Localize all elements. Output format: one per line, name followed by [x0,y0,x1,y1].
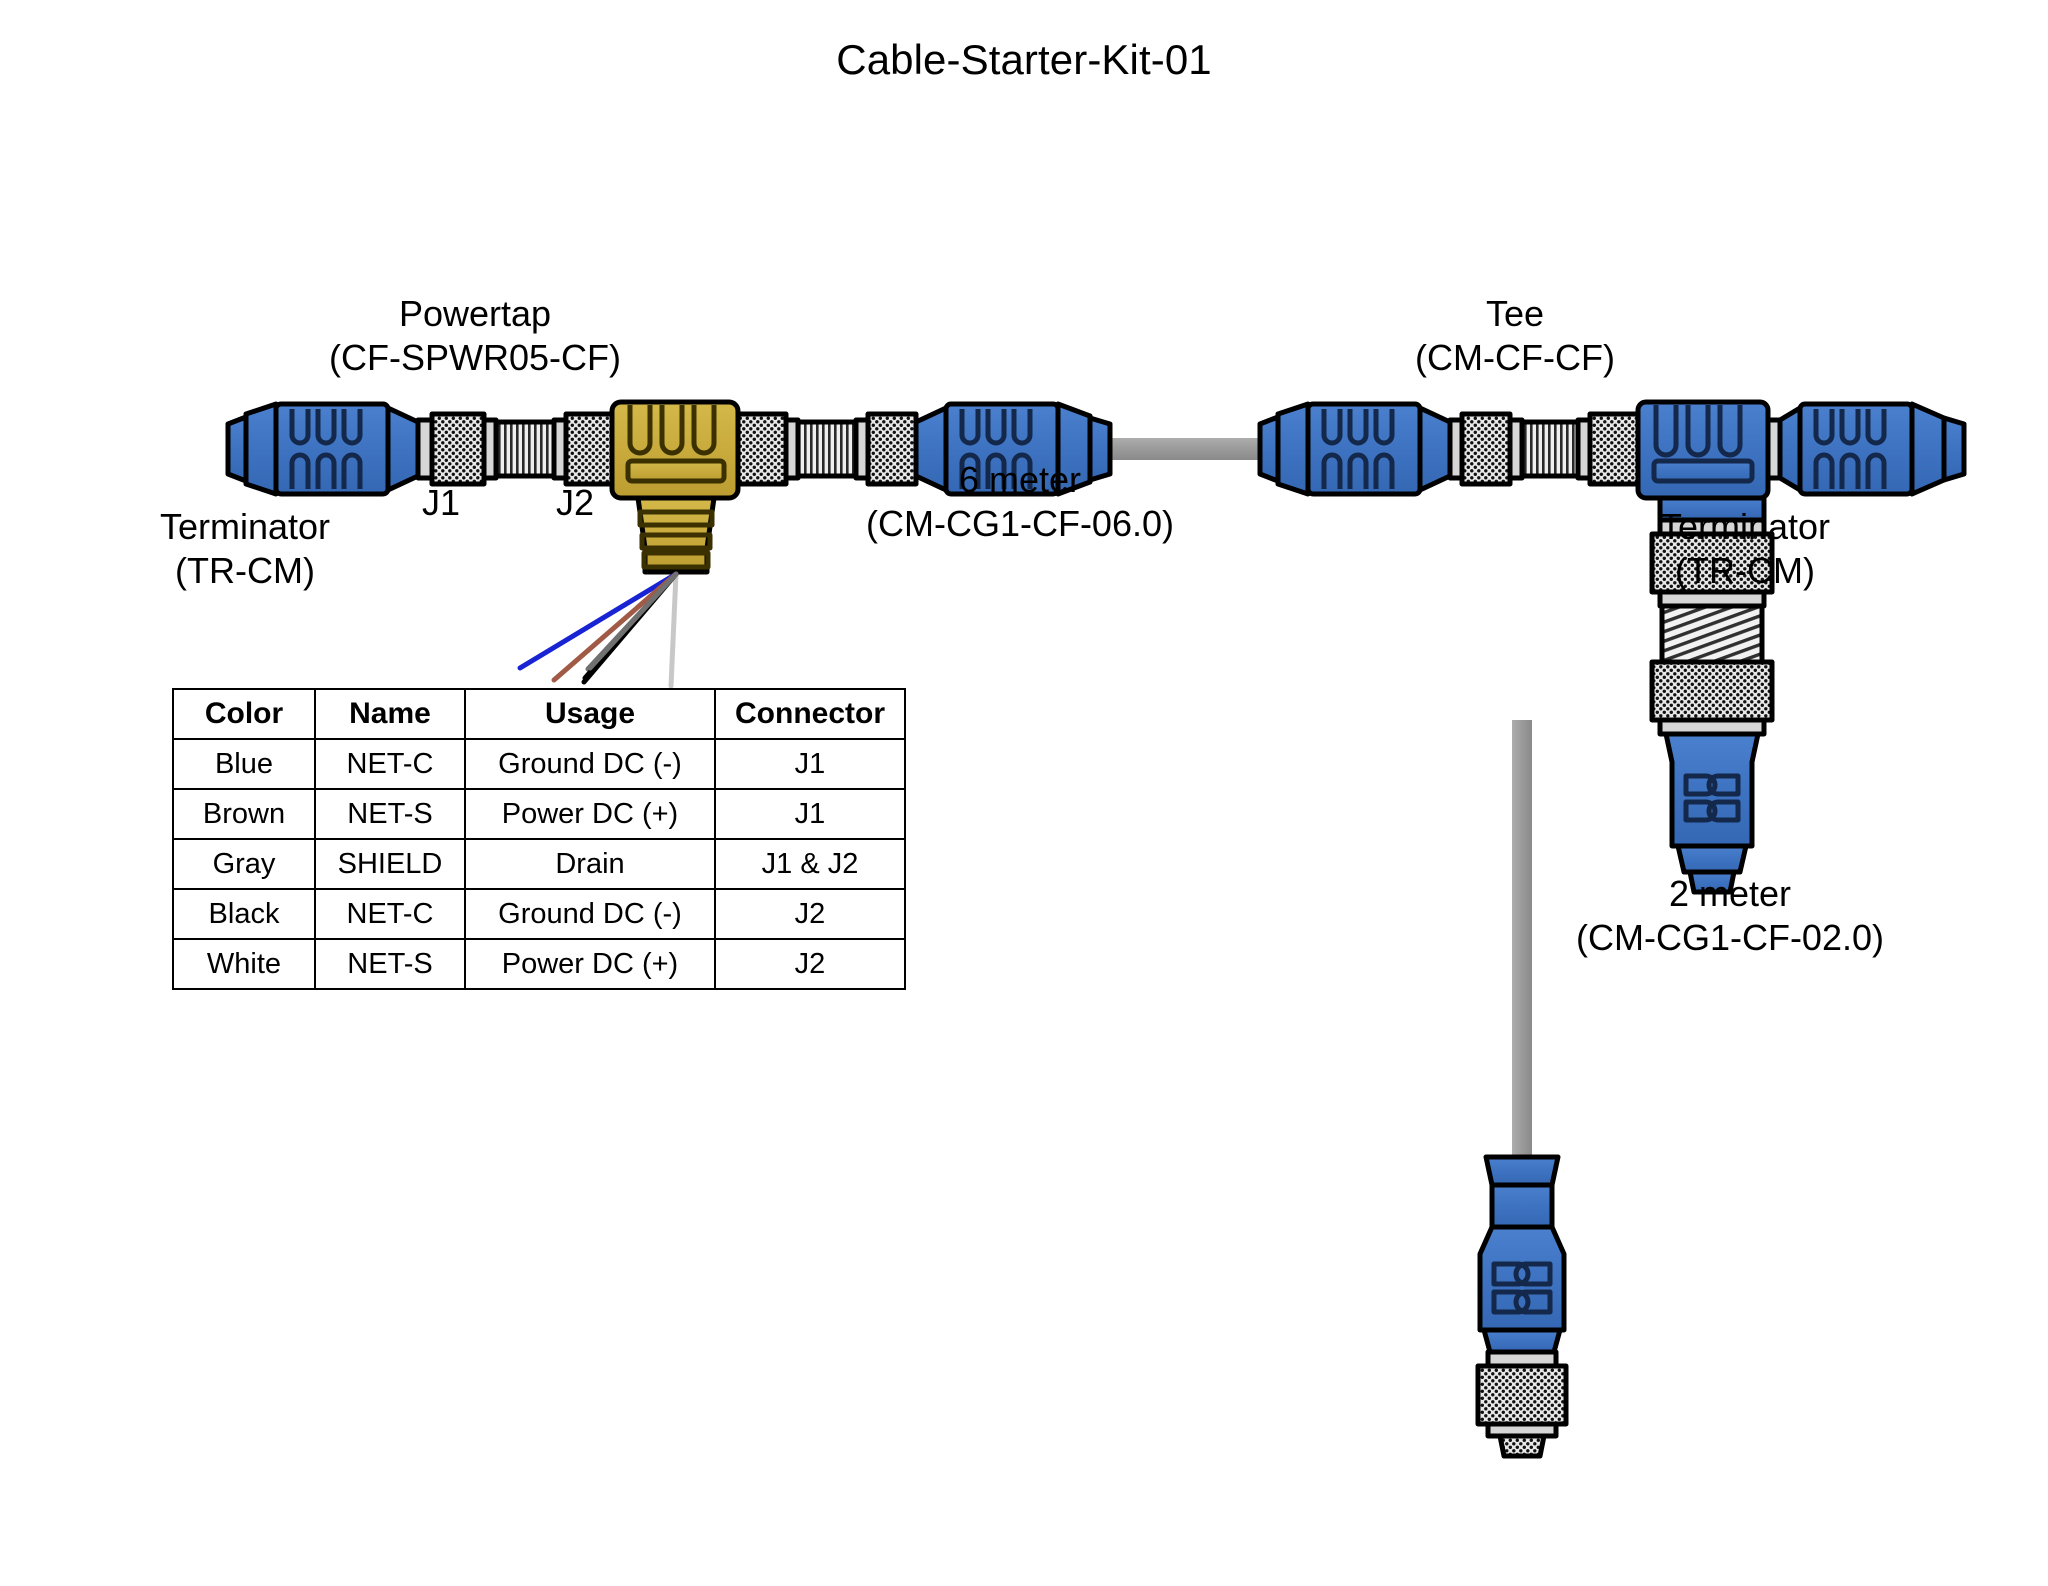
label-terminator-left-part: (TR-CM) [85,549,405,593]
wire-pinout-table-wrapper: Color Name Usage Connector Blue NET-C Gr… [172,688,906,990]
wire-fan [520,574,676,686]
label-drop-cable-length: 2 meter [1520,872,1940,916]
column-header-color: Color [173,689,315,739]
label-powertap-part: (CF-SPWR05-CF) [260,336,690,380]
cell-color: Black [173,889,315,939]
label-terminator-right-part: (TR-CM) [1545,549,1945,593]
table-row: White NET-S Power DC (+) J2 [173,939,905,989]
label-powertap: Powertap (CF-SPWR05-CF) [260,292,690,380]
label-tee: Tee (CM-CF-CF) [1300,292,1730,380]
cell-color: Brown [173,789,315,839]
column-header-usage: Usage [465,689,715,739]
drop-cable-end-connector [1478,1157,1566,1456]
brown-wire [554,574,676,680]
label-connector-j1: J1 [422,482,460,524]
cell-connector: J2 [715,889,905,939]
cell-usage: Ground DC (-) [465,739,715,789]
label-terminator-left-name: Terminator [85,505,405,549]
cell-name: NET-C [315,739,465,789]
label-terminator-right-name: Terminator [1545,505,1945,549]
cell-connector: J1 [715,739,905,789]
table-row: Black NET-C Ground DC (-) J2 [173,889,905,939]
label-trunk-cable-part: (CM-CG1-CF-06.0) [820,502,1220,546]
cell-connector: J1 & J2 [715,839,905,889]
cell-usage: Drain [465,839,715,889]
cell-usage: Power DC (+) [465,789,715,839]
label-terminator-left: Terminator (TR-CM) [85,505,405,593]
cell-connector: J2 [715,939,905,989]
cell-name: NET-S [315,939,465,989]
label-drop-cable: 2 meter (CM-CG1-CF-02.0) [1520,872,1940,960]
label-tee-name: Tee [1300,292,1730,336]
label-powertap-name: Powertap [260,292,690,336]
cell-color: White [173,939,315,989]
cell-usage: Power DC (+) [465,939,715,989]
blue-wire [520,574,676,668]
label-connector-j2: J2 [556,482,594,524]
label-trunk-cable-length: 6 meter [820,458,1220,502]
white-wire [671,574,676,686]
table-header-row: Color Name Usage Connector [173,689,905,739]
label-terminator-right: Terminator (TR-CM) [1545,505,1945,593]
tee-connector [1638,402,1772,892]
cell-name: NET-S [315,789,465,839]
table-row: Brown NET-S Power DC (+) J1 [173,789,905,839]
trunk-cable-right-connector [1260,404,1638,494]
cell-color: Blue [173,739,315,789]
column-header-connector: Connector [715,689,905,739]
cell-connector: J1 [715,789,905,839]
table-row: Blue NET-C Ground DC (-) J1 [173,739,905,789]
cell-color: Gray [173,839,315,889]
label-tee-part: (CM-CF-CF) [1300,336,1730,380]
label-trunk-cable: 6 meter (CM-CG1-CF-06.0) [820,458,1220,546]
cell-name: SHIELD [315,839,465,889]
cell-usage: Ground DC (-) [465,889,715,939]
table-row: Gray SHIELD Drain J1 & J2 [173,839,905,889]
powertap-connector [612,402,738,572]
wire-pinout-table: Color Name Usage Connector Blue NET-C Gr… [172,688,906,990]
column-header-name: Name [315,689,465,739]
cable-kit-diagram: Cable-Starter-Kit-01 [0,0,2048,1586]
cell-name: NET-C [315,889,465,939]
terminator-right [1768,404,1964,494]
label-drop-cable-part: (CM-CG1-CF-02.0) [1520,916,1940,960]
terminator-left [228,404,614,494]
wire-fan-right [585,574,676,678]
